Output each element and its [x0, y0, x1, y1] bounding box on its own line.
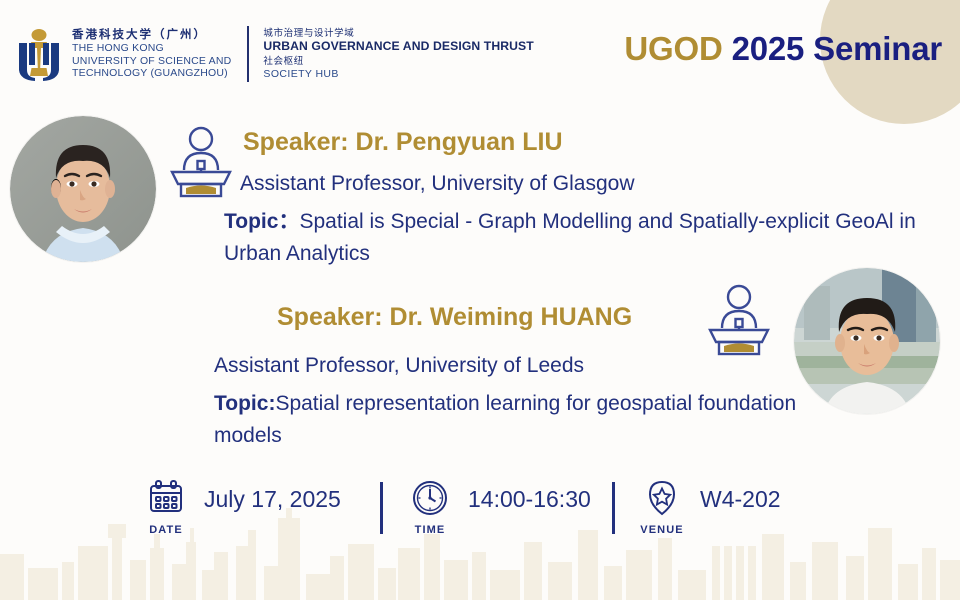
- speaker-1-topic-text: Spatial is Special - Graph Modelling and…: [224, 210, 916, 265]
- speaker-2-name: Speaker: Dr. Weiming HUANG: [277, 303, 632, 332]
- seminar-poster: 香港科技大学（广州） THE HONG KONG UNIVERSITY OF S…: [0, 0, 960, 600]
- speaker-1-topic: Topic：Spatial is Special - Graph Modelli…: [224, 206, 924, 270]
- speaker-2-topic-label: Topic:: [214, 392, 275, 415]
- calendar-icon: [146, 478, 186, 518]
- date-label: DATE: [140, 524, 192, 536]
- info-date: DATE July 17, 2025: [140, 478, 341, 536]
- thrust-name-en: URBAN GOVERNANCE AND DESIGN THRUST: [263, 39, 533, 54]
- university-name-cn: 香港科技大学（广州）: [72, 29, 231, 43]
- poster-title: UGOD 2025 Seminar: [624, 30, 942, 68]
- speaker-2-topic-text: Spatial representation learning for geos…: [214, 392, 796, 447]
- podium-speaker-icon: [706, 284, 772, 356]
- title-year-seminar: 2025 Seminar: [732, 30, 942, 67]
- speaker-1-name: Speaker: Dr. Pengyuan LIU: [243, 128, 563, 157]
- speaker-1-affiliation: Assistant Professor, University of Glasg…: [240, 172, 634, 196]
- info-separator-2: [612, 482, 615, 534]
- speaker-1-topic-label: Topic：: [224, 210, 299, 233]
- speaker-2-photo: [794, 268, 940, 414]
- hub-name-cn: 社会枢纽: [263, 56, 533, 68]
- university-name: 香港科技大学（广州） THE HONG KONG UNIVERSITY OF S…: [72, 29, 231, 80]
- portrait-weiming-huang: [794, 268, 940, 414]
- university-name-en-2: UNIVERSITY OF SCIENCE AND: [72, 55, 231, 67]
- date-icon-wrap: DATE: [140, 478, 192, 536]
- time-label: TIME: [404, 524, 456, 536]
- speaker-2-affiliation: Assistant Professor, University of Leeds: [214, 354, 584, 378]
- location-pin-icon: [642, 478, 682, 518]
- speaker-2-topic: Topic:Spatial representation learning fo…: [214, 388, 814, 452]
- venue-icon-wrap: VENUE: [636, 478, 688, 536]
- portrait-pengyuan-liu: [10, 116, 156, 262]
- hub-name-en: SOCIETY HUB: [263, 68, 533, 81]
- institution-logo-block: 香港科技大学（广州） THE HONG KONG UNIVERSITY OF S…: [16, 26, 534, 82]
- time-icon-wrap: TIME: [404, 478, 456, 536]
- clock-icon: [410, 478, 450, 518]
- speaker-1-photo: [10, 116, 156, 262]
- thrust-name: 城市治理与设计学域 URBAN GOVERNANCE AND DESIGN TH…: [263, 28, 533, 81]
- event-info-bar: DATE July 17, 2025: [0, 478, 960, 548]
- logo-divider: [247, 26, 249, 82]
- poster-header: 香港科技大学（广州） THE HONG KONG UNIVERSITY OF S…: [0, 0, 960, 110]
- hkust-logo-icon: [16, 26, 62, 82]
- venue-value: W4-202: [700, 486, 781, 513]
- podium-speaker-icon: [168, 126, 234, 198]
- info-venue: VENUE W4-202: [636, 478, 781, 536]
- thrust-name-cn: 城市治理与设计学域: [263, 28, 533, 40]
- time-value: 14:00-16:30: [468, 486, 591, 513]
- date-value: July 17, 2025: [204, 486, 341, 513]
- info-separator-1: [380, 482, 383, 534]
- university-name-en-1: THE HONG KONG: [72, 42, 231, 54]
- venue-label: VENUE: [636, 524, 688, 536]
- university-name-en-3: TECHNOLOGY (GUANGZHOU): [72, 67, 231, 79]
- title-ugod: UGOD: [624, 30, 722, 67]
- info-time: TIME 14:00-16:30: [404, 478, 591, 536]
